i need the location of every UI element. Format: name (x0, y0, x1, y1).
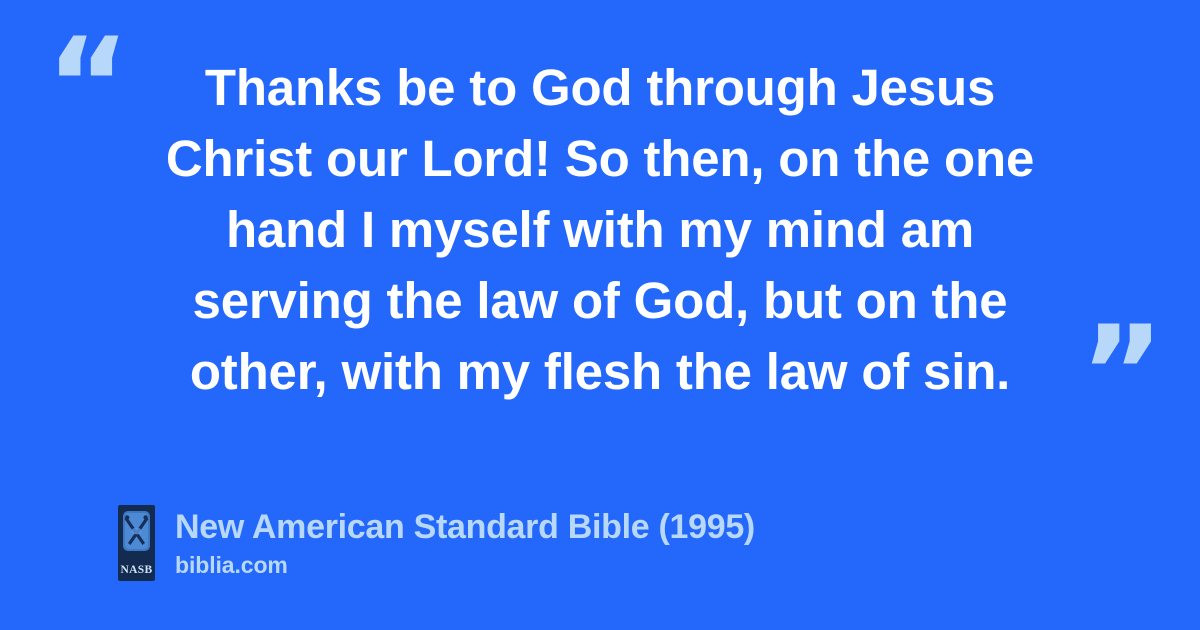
closing-quote-icon: ” (1080, 310, 1164, 438)
bible-version-title: New American Standard Bible (1995) (175, 507, 755, 547)
quote-text-block: Thanks be to God through Jesus Christ ou… (110, 52, 1090, 407)
quote-line: hand I myself with my mind am (110, 194, 1090, 265)
quote-line: Thanks be to God through Jesus (110, 52, 1090, 123)
quote-line: Christ our Lord! So then, on the one (110, 123, 1090, 194)
nasb-logo-label: NASB (118, 564, 155, 576)
nasb-logo-icon: NASB (118, 505, 155, 581)
quote-line: other, with my flesh the law of sin. (110, 336, 1090, 407)
footer-text-group: New American Standard Bible (1995) bibli… (175, 505, 755, 580)
verse-card: “ Thanks be to God through Jesus Christ … (0, 0, 1200, 630)
nasb-emblem-icon (122, 510, 151, 554)
attribution-footer: NASB New American Standard Bible (1995) … (118, 505, 755, 581)
quote-line: serving the law of God, but on the (110, 265, 1090, 336)
source-url[interactable]: biblia.com (175, 550, 755, 580)
